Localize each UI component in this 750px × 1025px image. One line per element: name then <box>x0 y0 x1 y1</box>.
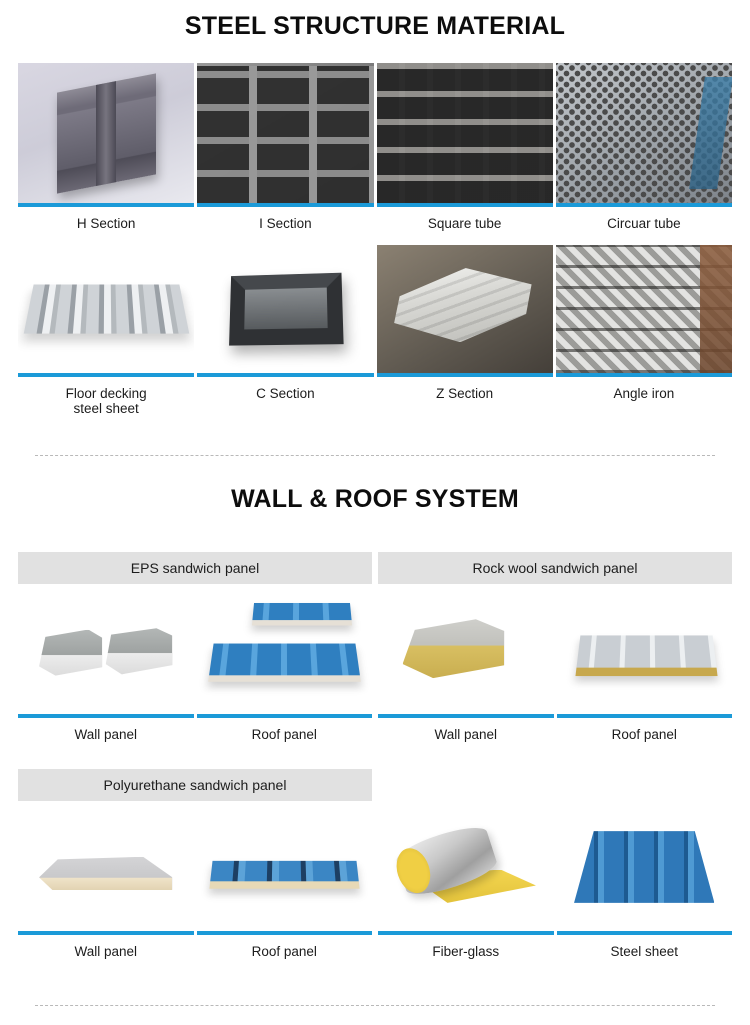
product-card-fiber-glass[interactable]: Fiber-glass <box>378 803 554 959</box>
product-label: Roof panel <box>197 718 373 742</box>
product-card-angle-iron[interactable]: Angle iron <box>556 245 732 416</box>
product-label: Floor decking steel sheet <box>18 377 194 416</box>
panel-group-header-row-2: Polyurethane sandwich panel <box>18 769 732 801</box>
product-label: Wall panel <box>18 935 194 959</box>
panel-row-2: Wall panel Roof panel Fiber-glass Steel … <box>18 803 732 959</box>
product-label: Z Section <box>377 377 553 401</box>
product-label: Roof panel <box>197 935 373 959</box>
product-label: C Section <box>197 377 373 401</box>
product-card-z-section[interactable]: Z Section <box>377 245 553 416</box>
circular-tube-bundle-photo <box>556 63 732 203</box>
angle-iron-stack-photo <box>556 245 732 373</box>
c-section-purlin-photo <box>197 245 373 373</box>
product-label: Roof panel <box>557 718 733 742</box>
product-card-floor-decking[interactable]: Floor decking steel sheet <box>18 245 194 416</box>
eps-roof-panel-photo <box>197 586 373 714</box>
product-card-pu-wall-panel[interactable]: Wall panel <box>18 803 194 959</box>
polyurethane-roof-panel-photo <box>197 803 373 931</box>
group-header-polyurethane: Polyurethane sandwich panel <box>18 769 372 801</box>
product-card-pu-roof-panel[interactable]: Roof panel <box>197 803 373 959</box>
steel-row-1: H Section I Section Square tube Circuar … <box>18 63 732 231</box>
product-label: Angle iron <box>556 377 732 401</box>
product-label: Wall panel <box>18 718 194 742</box>
steel-row-2: Floor decking steel sheet C Section Z Se… <box>18 245 732 416</box>
product-label: Wall panel <box>378 718 554 742</box>
fiber-glass-roll-photo <box>378 803 554 931</box>
z-section-purlin-photo <box>377 245 553 373</box>
rock-wool-wall-panel-photo <box>378 586 554 714</box>
page-title-wall-roof-system: WALL & ROOF SYSTEM <box>0 485 750 514</box>
blue-corrugated-steel-sheet-photo <box>557 803 733 931</box>
product-card-eps-roof-panel[interactable]: Roof panel <box>197 586 373 742</box>
product-card-c-section[interactable]: C Section <box>197 245 373 416</box>
product-label: Steel sheet <box>557 935 733 959</box>
square-tube-stack-photo <box>377 63 553 203</box>
group-header-rock-wool: Rock wool sandwich panel <box>378 552 732 584</box>
product-card-h-section[interactable]: H Section <box>18 63 194 231</box>
product-card-rock-wool-roof-panel[interactable]: Roof panel <box>557 586 733 742</box>
product-label: I Section <box>197 207 373 231</box>
eps-wall-panel-photo <box>18 586 194 714</box>
product-card-rock-wool-wall-panel[interactable]: Wall panel <box>378 586 554 742</box>
product-card-eps-wall-panel[interactable]: Wall panel <box>18 586 194 742</box>
panel-row-1: Wall panel Roof panel Wall panel Roof pa… <box>18 586 732 742</box>
section-divider-bottom <box>35 1005 715 1006</box>
group-header-empty <box>378 769 732 801</box>
floor-decking-steel-sheet-photo <box>18 245 194 373</box>
product-label: Square tube <box>377 207 553 231</box>
product-label: H Section <box>18 207 194 231</box>
panel-group-header-row-1: EPS sandwich panel Rock wool sandwich pa… <box>18 552 732 584</box>
product-catalog-page: STEEL STRUCTURE MATERIAL H Section I Sec… <box>0 0 750 1025</box>
product-card-square-tube[interactable]: Square tube <box>377 63 553 231</box>
rock-wool-roof-panel-photo <box>557 586 733 714</box>
page-title-steel-structure: STEEL STRUCTURE MATERIAL <box>0 12 750 41</box>
polyurethane-wall-panel-photo <box>18 803 194 931</box>
group-header-eps: EPS sandwich panel <box>18 552 372 584</box>
product-label: Fiber-glass <box>378 935 554 959</box>
product-card-circular-tube[interactable]: Circuar tube <box>556 63 732 231</box>
product-card-i-section[interactable]: I Section <box>197 63 373 231</box>
product-card-steel-sheet[interactable]: Steel sheet <box>557 803 733 959</box>
section-divider-top <box>35 455 715 456</box>
h-section-beam-photo <box>18 63 194 203</box>
product-label: Circuar tube <box>556 207 732 231</box>
i-section-beam-stack-photo <box>197 63 373 203</box>
